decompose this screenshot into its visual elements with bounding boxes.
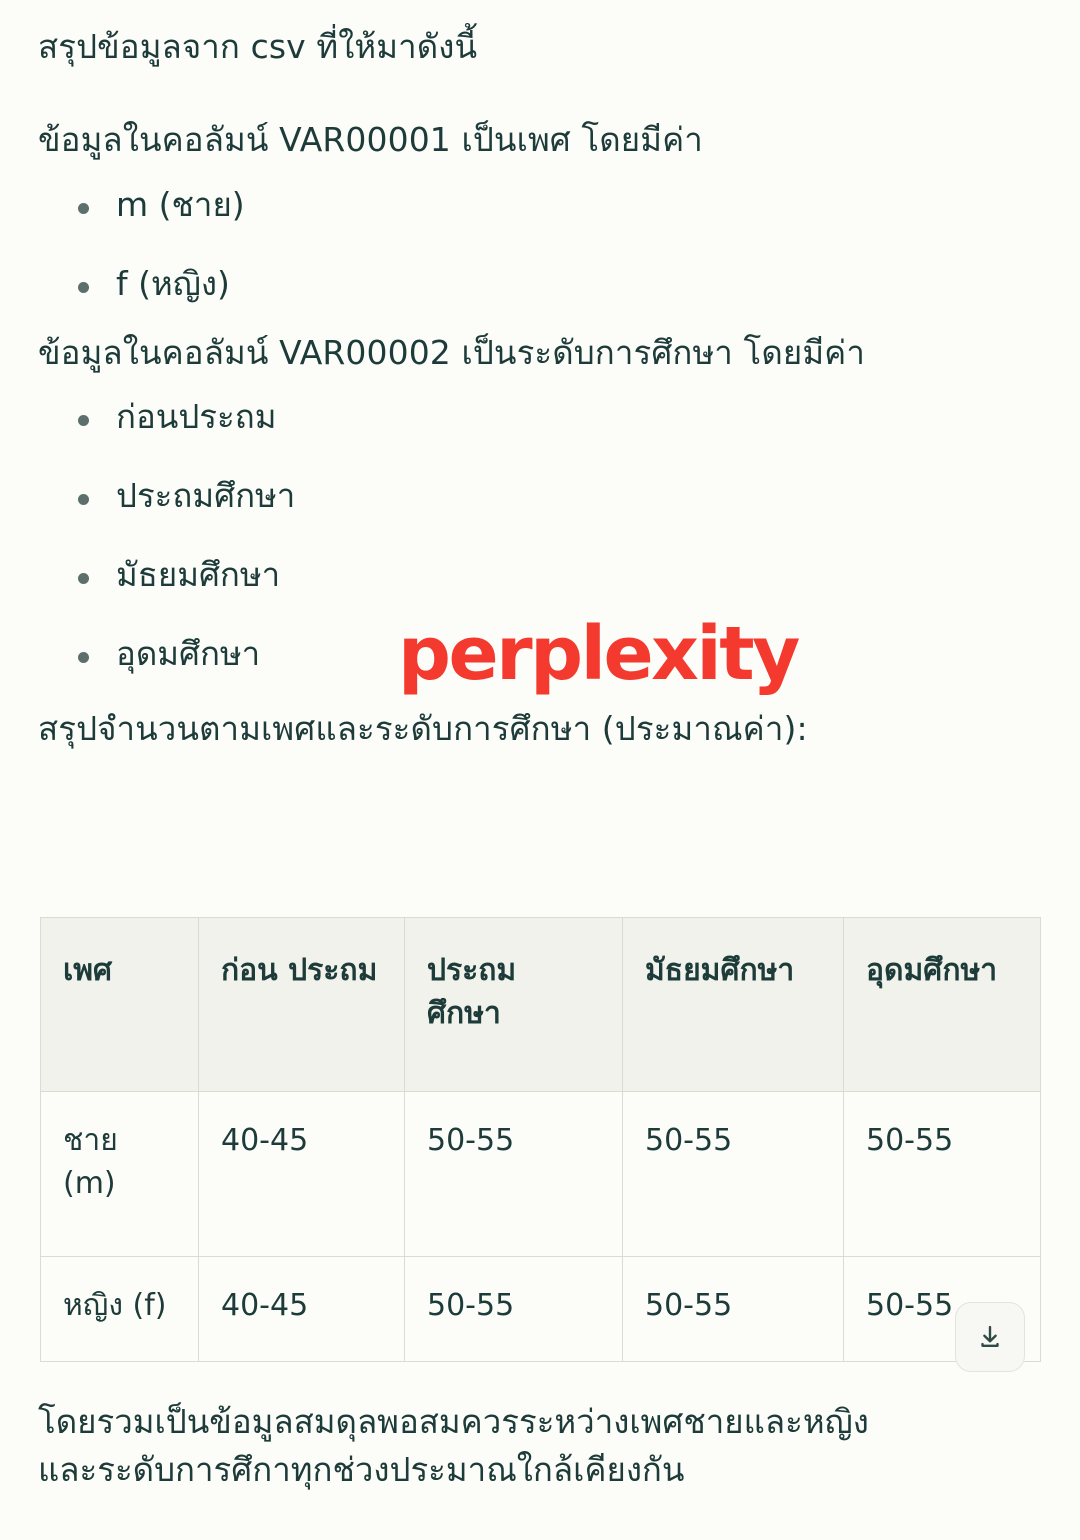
list-item: อุดมศึกษา	[78, 633, 1040, 676]
answer-body: สรุปข้อมูลจาก csv ที่ให้มาดังนี้ ข้อมูลใ…	[0, 0, 1080, 781]
summary-table: เพศ ก่อน ประถม ประถม ศึกษา มัธยมศึกษา อุ…	[40, 917, 1041, 1362]
intro-paragraph: สรุปข้อมูลจาก csv ที่ให้มาดังนี้	[38, 24, 1040, 71]
download-table-button[interactable]	[955, 1302, 1025, 1372]
cell-value: 40-45	[199, 1092, 405, 1257]
column-header-primary: ประถม ศึกษา	[405, 918, 623, 1092]
column-header-preprimary: ก่อน ประถม	[199, 918, 405, 1092]
list-item: ประถมศึกษา	[78, 475, 1040, 518]
cell-value: 50-55	[405, 1257, 623, 1362]
download-icon	[975, 1322, 1005, 1352]
summary-table-container: เพศ ก่อน ประถม ประถม ศึกษา มัธยมศึกษา อุ…	[40, 917, 1040, 1362]
list-item: ก่อนประถม	[78, 396, 1040, 439]
table-caption: สรุปจำนวนตามเพศและระดับการศึกษา (ประมาณค…	[38, 706, 1040, 753]
closing-line-1: โดยรวมเป็นข้อมูลสมดุลพอสมควรระหว่างเพศชา…	[38, 1398, 1048, 1446]
table-header-row: เพศ ก่อน ประถม ประถม ศึกษา มัธยมศึกษา อุ…	[41, 918, 1041, 1092]
education-section-lead: ข้อมูลในคอลัมน์ VAR00002 เป็นระดับการศึก…	[38, 330, 1040, 377]
cell-value: 50-55	[405, 1092, 623, 1257]
gender-section-lead: ข้อมูลในคอลัมน์ VAR00001 เป็นเพศ โดยมีค่…	[38, 117, 1040, 164]
column-header-gender: เพศ	[41, 918, 199, 1092]
education-values-list: ก่อนประถม ประถมศึกษา มัธยมศึกษา อุดมศึกษ…	[38, 396, 1040, 676]
closing-line-2: และระดับการศึกาทุกช่วงประมาณใกล้เคียงกัน	[38, 1446, 1048, 1494]
row-label-male: ชาย (m)	[41, 1092, 199, 1257]
list-item: มัธยมศึกษา	[78, 554, 1040, 597]
column-header-secondary: มัธยมศึกษา	[623, 918, 844, 1092]
cell-value: 40-45	[199, 1257, 405, 1362]
list-item: f (หญิง)	[78, 263, 1040, 306]
cell-value: 50-55	[623, 1092, 844, 1257]
closing-paragraph: โดยรวมเป็นข้อมูลสมดุลพอสมควรระหว่างเพศชา…	[38, 1398, 1048, 1494]
cell-value: 50-55	[844, 1092, 1041, 1257]
cell-value: 50-55	[623, 1257, 844, 1362]
list-item: m (ชาย)	[78, 184, 1040, 227]
column-header-tertiary: อุดมศึกษา	[844, 918, 1041, 1092]
table-row: ชาย (m) 40-45 50-55 50-55 50-55	[41, 1092, 1041, 1257]
row-label-female: หญิง (f)	[41, 1257, 199, 1362]
table-row: หญิง (f) 40-45 50-55 50-55 50-55	[41, 1257, 1041, 1362]
gender-values-list: m (ชาย) f (หญิง)	[38, 184, 1040, 306]
